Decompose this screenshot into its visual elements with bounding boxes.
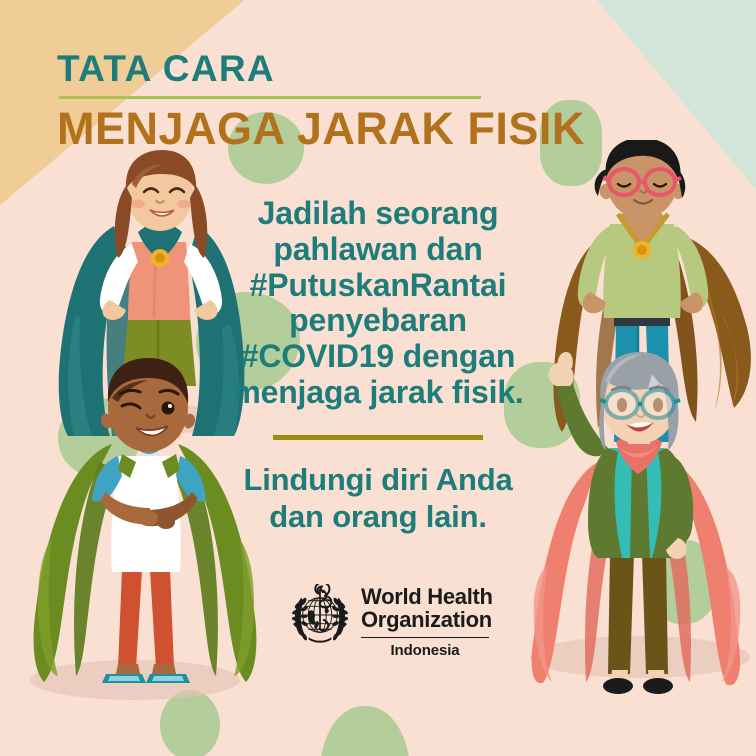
paragraph-secondary: Lindungi diri Anda dan orang lain.	[218, 462, 538, 535]
who-country-label: Indonesia	[361, 642, 489, 659]
copy-line: Lindungi diri Anda	[218, 462, 538, 499]
who-name-line2: Organization	[361, 609, 493, 632]
copy-line: dan orang lain.	[218, 499, 538, 536]
headline-rule	[59, 96, 481, 99]
who-name-line1: World Health	[361, 586, 493, 609]
who-emblem-icon	[289, 584, 351, 646]
copy-line: pahlawan dan	[218, 232, 538, 268]
elderly-woman-with-coral-cape-illustration	[512, 352, 756, 710]
copy-line-hashtag: #COVID19 dengan	[218, 339, 538, 375]
copy-line: penyebaran	[218, 303, 538, 339]
body-copy-block: Jadilah seorang pahlawan dan #PutuskanRa…	[218, 196, 538, 535]
copy-line: menjaga jarak fisik.	[218, 375, 538, 411]
headline-main: MENJAGA JARAK FISIK	[57, 106, 585, 151]
decorative-blob	[160, 690, 220, 756]
poster-canvas: TATA CARA MENJAGA JARAK FISIK Jadilah se…	[0, 0, 756, 756]
headline-group: TATA CARA MENJAGA JARAK FISIK	[57, 50, 585, 151]
who-logo: World Health Organization Indonesia	[289, 584, 493, 659]
copy-line: Jadilah seorang	[218, 196, 538, 232]
who-logo-separator	[361, 637, 489, 639]
headline-kicker: TATA CARA	[57, 50, 585, 87]
paragraph-primary: Jadilah seorang pahlawan dan #PutuskanRa…	[218, 196, 538, 411]
copy-divider	[273, 435, 483, 440]
copy-line-hashtag: #PutuskanRantai	[218, 268, 538, 304]
who-logo-text: World Health Organization Indonesia	[361, 584, 493, 659]
